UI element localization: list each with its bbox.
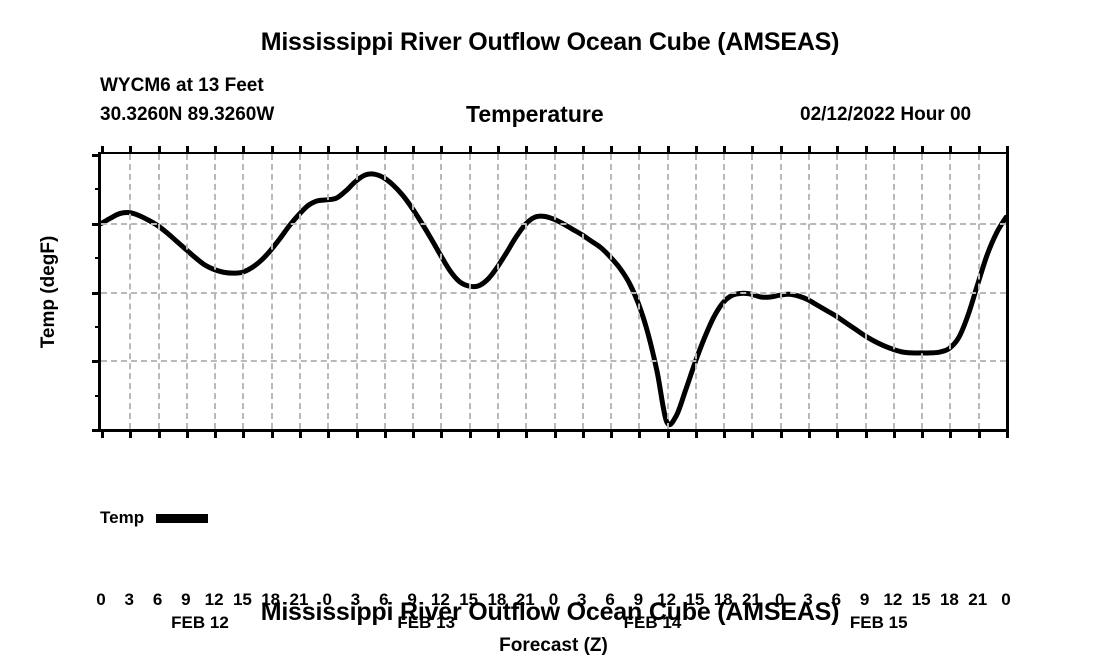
y-tick-minor (95, 188, 101, 190)
x-tick-top (610, 146, 613, 154)
x-tick (469, 429, 472, 438)
gridline-v (610, 154, 612, 429)
x-tick-top (356, 146, 359, 154)
station-label: WYCM6 at 13 Feet (100, 75, 264, 97)
y-tick (92, 292, 101, 295)
legend-label: Temp (100, 508, 144, 528)
x-tick-top (893, 146, 896, 154)
x-tick (836, 429, 839, 438)
x-tick (440, 429, 443, 438)
x-tick (299, 429, 302, 438)
x-tick-top (440, 146, 443, 154)
x-tick (327, 429, 330, 438)
x-tick (695, 429, 698, 438)
page-title: Mississippi River Outflow Ocean Cube (AM… (0, 28, 1100, 57)
gridline-v (808, 154, 810, 429)
x-tick (271, 429, 274, 438)
gridline-v (299, 154, 301, 429)
x-tick (186, 429, 189, 438)
y-tick-minor (95, 326, 101, 328)
x-tick (129, 429, 132, 438)
legend: Temp (100, 508, 208, 528)
x-tick-top (497, 146, 500, 154)
x-tick (751, 429, 754, 438)
gridline-v (751, 154, 753, 429)
model-run-label: 02/12/2022 Hour 00 (800, 104, 971, 126)
y-tick (92, 154, 101, 157)
x-tick (949, 429, 952, 438)
plot-inner (101, 154, 1006, 429)
x-tick (780, 429, 783, 438)
gridline-v (129, 154, 131, 429)
x-tick-top (412, 146, 415, 154)
gridline-v (582, 154, 584, 429)
plot-area: 54.0054.7555.5056.2557.00 03691215182103… (98, 152, 1009, 432)
gridline-v (412, 154, 414, 429)
x-tick (808, 429, 811, 438)
parameter-title: Temperature (466, 101, 604, 128)
gridline-v (949, 154, 951, 429)
gridline-v (356, 154, 358, 429)
x-tick (101, 429, 104, 438)
x-tick-top (949, 146, 952, 154)
gridline-v (469, 154, 471, 429)
x-tick-top (638, 146, 641, 154)
gridline-v (327, 154, 329, 429)
x-tick-top (667, 146, 670, 154)
y-tick-minor (95, 257, 101, 259)
x-tick (158, 429, 161, 438)
x-tick (554, 429, 557, 438)
x-tick-top (865, 146, 868, 154)
x-tick-top (978, 146, 981, 154)
gridline-v (525, 154, 527, 429)
gridline-v (158, 154, 160, 429)
x-tick-top (327, 146, 330, 154)
gridline-v (440, 154, 442, 429)
x-tick-top (780, 146, 783, 154)
x-tick-top (214, 146, 217, 154)
x-tick (921, 429, 924, 438)
x-tick (978, 429, 981, 438)
x-tick-top (582, 146, 585, 154)
gridline-v (214, 154, 216, 429)
x-tick-top (554, 146, 557, 154)
gridline-v (667, 154, 669, 429)
x-tick-top (186, 146, 189, 154)
gridline-v (695, 154, 697, 429)
x-tick (242, 429, 245, 438)
x-tick-top (1006, 146, 1009, 154)
y-tick (92, 360, 101, 363)
x-axis-title: Forecast (Z) (101, 635, 1006, 657)
x-tick (412, 429, 415, 438)
x-tick (525, 429, 528, 438)
x-tick-top (808, 146, 811, 154)
gridline-v (780, 154, 782, 429)
gridline-v (186, 154, 188, 429)
x-tick-top (525, 146, 528, 154)
x-tick (865, 429, 868, 438)
x-tick-top (921, 146, 924, 154)
x-tick (1006, 429, 1009, 438)
x-tick (214, 429, 217, 438)
gridline-v (384, 154, 386, 429)
x-tick (384, 429, 387, 438)
y-tick-minor (95, 395, 101, 397)
x-tick-top (129, 146, 132, 154)
gridline-v (497, 154, 499, 429)
x-tick-top (469, 146, 472, 154)
gridline-v (978, 154, 980, 429)
gridline-v (242, 154, 244, 429)
x-tick (610, 429, 613, 438)
x-tick (723, 429, 726, 438)
x-tick (893, 429, 896, 438)
x-tick-top (836, 146, 839, 154)
x-tick (356, 429, 359, 438)
gridline-v (723, 154, 725, 429)
x-tick-top (751, 146, 754, 154)
footer-title: Mississippi River Outflow Ocean Cube (AM… (0, 598, 1100, 627)
y-tick (92, 223, 101, 226)
x-tick (638, 429, 641, 438)
gridline-v (638, 154, 640, 429)
gridline-v (554, 154, 556, 429)
x-tick-top (384, 146, 387, 154)
y-axis-title: Temp (degF) (38, 236, 60, 349)
x-tick-top (271, 146, 274, 154)
gridline-v (893, 154, 895, 429)
gridline-v (836, 154, 838, 429)
x-tick (667, 429, 670, 438)
y-tick (92, 429, 101, 432)
gridline-v (271, 154, 273, 429)
x-tick-top (723, 146, 726, 154)
chart-page: Mississippi River Outflow Ocean Cube (AM… (0, 0, 1100, 650)
x-tick (497, 429, 500, 438)
x-tick (582, 429, 585, 438)
x-tick-top (101, 146, 104, 154)
x-tick-top (242, 146, 245, 154)
x-tick-top (158, 146, 161, 154)
gridline-v (865, 154, 867, 429)
x-tick-top (695, 146, 698, 154)
x-tick-top (299, 146, 302, 154)
legend-color-swatch (156, 514, 208, 523)
gridline-v (921, 154, 923, 429)
coordinates-label: 30.3260N 89.3260W (100, 104, 274, 126)
